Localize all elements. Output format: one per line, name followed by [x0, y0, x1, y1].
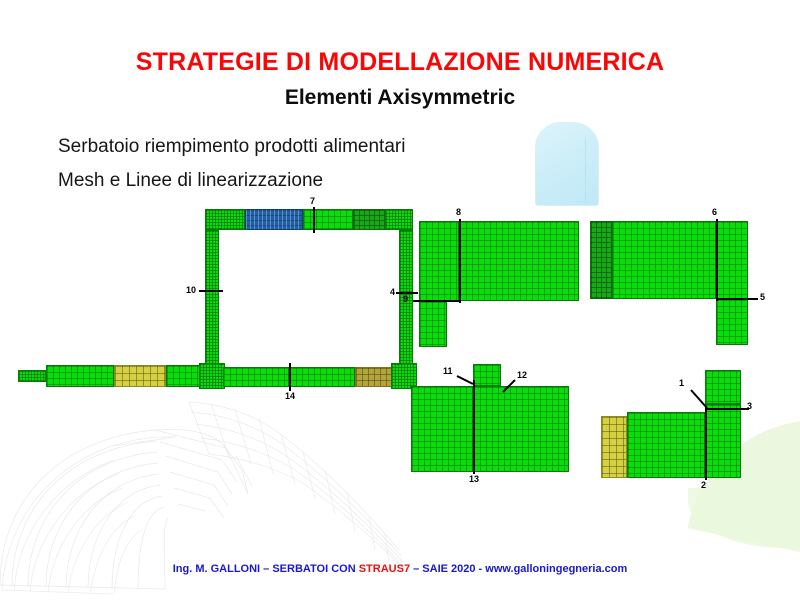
label-line-2: 2 — [701, 480, 706, 490]
figure-detail-top-left: 8 9 — [415, 205, 595, 345]
detail-tr-lower-stub — [716, 299, 748, 345]
slide-title: STRATEGIE DI MODELLAZIONE NUMERICA — [0, 48, 800, 77]
slide-subtitle: Elementi Axisymmetric — [0, 86, 800, 110]
linearization-line-8 — [459, 219, 461, 303]
slide-footer: Ing. M. GALLONI – SERBATOI CON STRAUS7 –… — [0, 563, 800, 575]
label-line-1: 1 — [679, 378, 684, 388]
label-line-10: 10 — [186, 285, 196, 295]
label-line-9: 9 — [403, 294, 408, 304]
leader-line-11-12 — [405, 362, 595, 487]
linearization-line-10 — [199, 290, 223, 292]
main-bottom-junction — [199, 363, 225, 389]
linearization-line-14 — [289, 363, 291, 391]
main-bottom-flange-yellow — [114, 365, 166, 387]
detail-tr-dark-band — [590, 221, 612, 299]
figure-main-section: 7 10 4 14 — [0, 195, 420, 410]
detail-tl-vertical-leg — [419, 221, 459, 301]
label-line-4: 4 — [390, 287, 395, 297]
label-line-14: 14 — [285, 391, 295, 401]
linearization-line-7 — [313, 207, 315, 233]
caption-line-2: Mesh e Linee di linearizzazione — [58, 170, 323, 192]
figure-detail-top-right: 6 5 — [590, 205, 765, 345]
label-line-5: 5 — [760, 292, 765, 302]
footer-text-before: Ing. M. GALLONI – SERBATOI CON — [173, 563, 359, 575]
main-top-wall-dark-segment — [353, 209, 385, 230]
main-left-wall — [205, 230, 219, 370]
main-bottom-flange-left — [46, 365, 114, 387]
label-line-13: 13 — [469, 474, 479, 484]
linearization-line-5 — [716, 298, 758, 300]
slide-canvas: STRATEGIE DI MODELLAZIONE NUMERICA Eleme… — [0, 0, 800, 600]
caption-line-1: Serbatoio riempimento prodotti alimentar… — [58, 136, 405, 158]
detail-tr-vertical-leg — [716, 221, 748, 299]
decorative-green-wedge-lower — [688, 488, 800, 548]
detail-tr-horizontal-arm — [612, 221, 716, 299]
decorative-blue-tank-icon — [535, 122, 599, 206]
linearization-line-9 — [413, 300, 459, 302]
main-top-wall-right-corner — [385, 209, 413, 230]
label-line-11: 11 — [443, 366, 453, 376]
main-bottom-wall-olive — [355, 367, 393, 387]
leader-line-1 — [595, 368, 760, 493]
detail-tl-lower-stub — [419, 301, 447, 347]
label-line-8: 8 — [456, 207, 461, 217]
footer-text-after: – SAIE 2020 - www.galloningegneria.com — [410, 563, 627, 575]
main-bottom-wall-left — [223, 367, 289, 387]
background-wireframe-mid — [185, 398, 435, 573]
linearization-line-6 — [716, 219, 718, 301]
footer-text-highlight: STRAUS7 — [359, 563, 410, 575]
main-top-wall-green-segment — [303, 209, 353, 230]
figure-detail-bottom-left: 11 12 13 — [405, 362, 595, 487]
figure-detail-bottom-right: 1 2 3 — [595, 368, 760, 493]
label-line-3: 3 — [747, 401, 752, 411]
main-bottom-flange-far-left — [18, 370, 46, 382]
main-bottom-wall-mid — [289, 367, 355, 387]
label-line-6: 6 — [712, 207, 717, 217]
detail-tl-horizontal-arm — [459, 221, 579, 301]
background-wireframe-left — [0, 390, 320, 590]
label-line-12: 12 — [517, 370, 527, 380]
label-line-7: 7 — [310, 196, 315, 206]
main-top-wall-left-corner — [205, 209, 245, 230]
main-top-wall-blue-segment — [245, 209, 303, 230]
